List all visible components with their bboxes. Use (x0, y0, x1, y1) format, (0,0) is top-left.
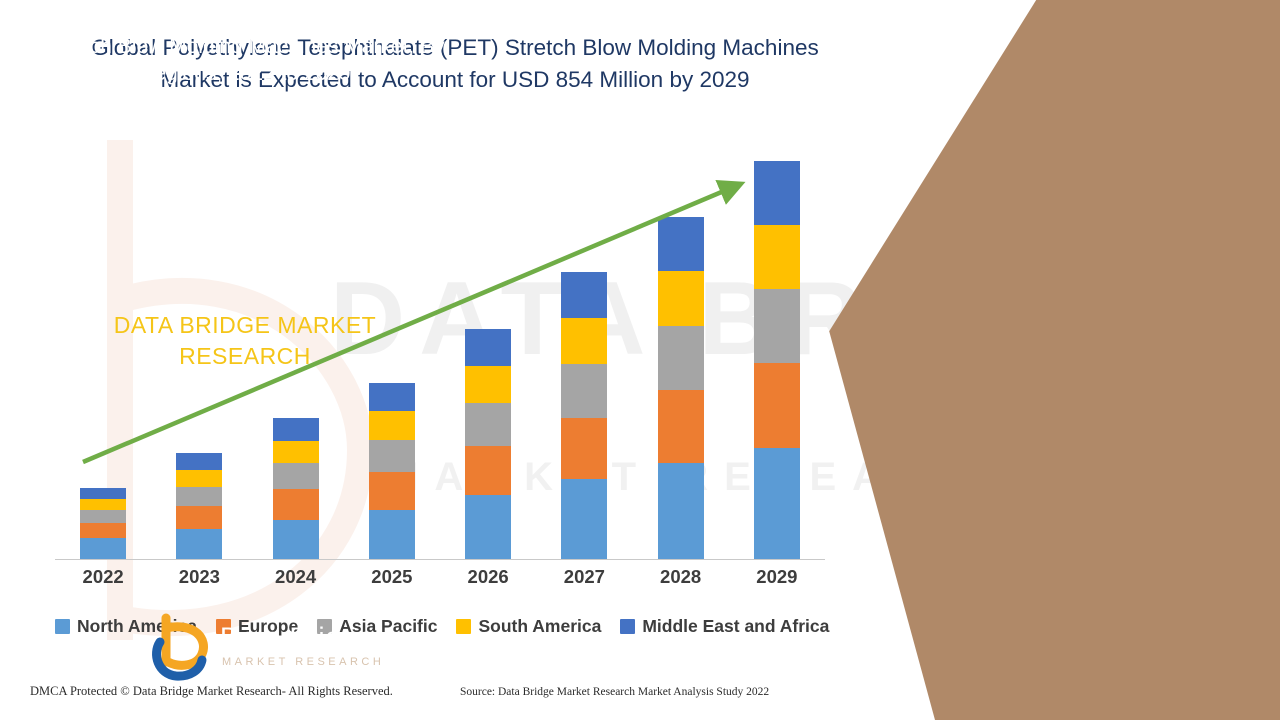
bar-segment (658, 271, 704, 326)
x-axis-tick-label: 2025 (344, 566, 440, 588)
bar-segment (369, 383, 415, 411)
hexagon-badges: 2022 2029 (120, 148, 440, 278)
x-axis-tick-label: 2026 (440, 566, 536, 588)
bar-segment (369, 472, 415, 510)
stacked-bar[interactable] (369, 383, 415, 559)
bar-segment (80, 538, 126, 559)
legend-swatch (620, 619, 635, 634)
bar-segment (754, 448, 800, 559)
bar-segment (80, 499, 126, 510)
legend-label: Middle East and Africa (642, 616, 829, 637)
x-axis-tick-label: 2022 (55, 566, 151, 588)
x-axis-tick-label: 2023 (151, 566, 247, 588)
bar-segment (465, 366, 511, 403)
bar-segment (561, 364, 607, 418)
stacked-bar[interactable] (561, 272, 607, 559)
stacked-bar[interactable] (176, 453, 222, 559)
bar-segment (754, 161, 800, 225)
bar-column (729, 150, 825, 559)
x-axis-tick-label: 2024 (248, 566, 344, 588)
bar-segment (80, 510, 126, 523)
x-axis-tick-label: 2029 (729, 566, 825, 588)
logo-name: Data Bridge (220, 622, 374, 653)
stacked-bar[interactable] (80, 488, 126, 560)
bar-segment (754, 225, 800, 289)
bar-segment (273, 463, 319, 489)
bar-segment (176, 453, 222, 470)
bar-segment (273, 489, 319, 519)
bar-column (633, 150, 729, 559)
bar-segment (273, 441, 319, 464)
bar-segment (754, 363, 800, 448)
bar-segment (465, 403, 511, 446)
slide-root: DATA BRIDGE MARKET RESEARCH Global Polye… (0, 0, 1280, 720)
bar-segment (658, 390, 704, 463)
bar-segment (561, 272, 607, 318)
stacked-bar[interactable] (465, 329, 511, 559)
stacked-bar[interactable] (754, 161, 800, 559)
footer-copyright: DMCA Protected © Data Bridge Market Rese… (30, 684, 393, 699)
stacked-bar[interactable] (658, 217, 704, 559)
brand-panel (820, 0, 1280, 720)
bar-segment (754, 289, 800, 363)
bar-segment (176, 506, 222, 529)
bar-segment (273, 520, 319, 560)
bar-segment (369, 440, 415, 473)
bar-segment (658, 326, 704, 390)
bar-segment (176, 470, 222, 487)
bar-segment (80, 488, 126, 499)
db-logo-icon (150, 612, 220, 684)
bar-segment (273, 418, 319, 441)
bar-column (536, 150, 632, 559)
hex-label-2022: 2022 (285, 154, 365, 246)
bar-segment (369, 510, 415, 559)
bar-segment (561, 418, 607, 479)
legend-label: South America (478, 616, 601, 637)
bar-segment (465, 495, 511, 559)
bar-segment (561, 318, 607, 364)
bar-segment (80, 523, 126, 538)
bar-segment (176, 529, 222, 559)
legend-item[interactable]: South America (456, 616, 601, 637)
bar-segment (176, 487, 222, 507)
logo-subtitle: MARKET RESEARCH (222, 656, 384, 668)
brand-name: DATA BRIDGE MARKET RESEARCH (45, 310, 445, 372)
company-logo: Data Bridge MARKET RESEARCH (150, 612, 440, 692)
x-axis-line (55, 559, 825, 560)
bar-segment (561, 479, 607, 559)
bar-segment (658, 463, 704, 559)
stacked-bar[interactable] (273, 418, 319, 559)
bar-segment (465, 329, 511, 366)
legend-swatch (456, 619, 471, 634)
x-axis-tick-label: 2028 (633, 566, 729, 588)
x-axis-tick-label: 2027 (536, 566, 632, 588)
legend-swatch (55, 619, 70, 634)
hex-label-2029: 2029 (208, 176, 292, 272)
bar-segment (465, 446, 511, 495)
bar-column (440, 150, 536, 559)
panel-title: Global Polyethylene Terephthalate (PET) … (45, 6, 445, 87)
x-axis-labels: 20222023202420252026202720282029 (55, 566, 825, 588)
bar-segment (658, 217, 704, 272)
footer-source: Source: Data Bridge Market Research Mark… (460, 686, 769, 698)
legend-item[interactable]: Middle East and Africa (620, 616, 829, 637)
bar-segment (369, 411, 415, 439)
